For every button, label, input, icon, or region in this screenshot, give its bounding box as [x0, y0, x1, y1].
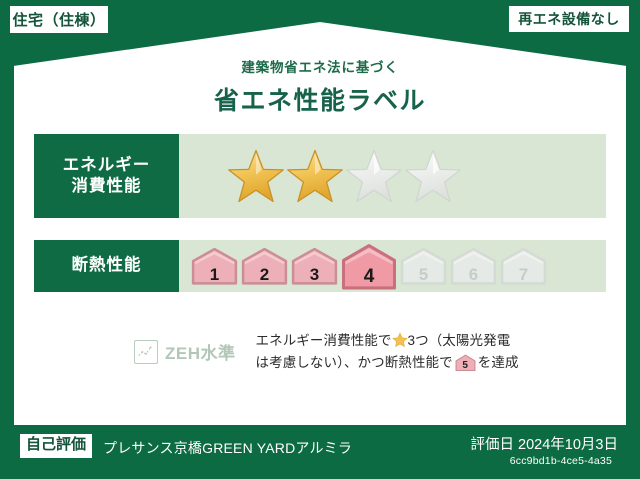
zeh-desc-text-4: を達成 — [478, 355, 519, 370]
star-icon — [392, 332, 408, 348]
renewable-equipment-tag: 再エネ設備なし — [509, 6, 629, 32]
zeh-desc-text-3: は考慮しない）、かつ断熱性能で — [256, 355, 453, 370]
zeh-desc-text-2: 3つ（太陽光発電 — [408, 333, 511, 348]
insulation-grade-5: 5 — [400, 247, 447, 285]
insulation-grade-number: 2 — [241, 266, 288, 283]
evaluation-date: 評価日 2024年10月3日 — [471, 433, 618, 454]
insulation-grade-7: 7 — [500, 247, 547, 285]
energy-performance-row: エネルギー 消費性能 — [34, 134, 606, 218]
energy-performance-label: エネルギー 消費性能 — [34, 134, 179, 218]
zeh-description-line1: エネルギー消費性能で 3つ（太陽光発電 — [256, 330, 519, 352]
zeh-badge: ZEH水準 — [34, 339, 236, 364]
zeh-level-icon — [134, 340, 158, 364]
insulation-grade-6: 6 — [450, 247, 497, 285]
evaluation-type-badge: 自己評価 — [20, 434, 92, 458]
insulation-grade-number: 6 — [450, 266, 497, 283]
zeh-description-line2: は考慮しない）、かつ断熱性能で 5 を達成 — [256, 352, 519, 374]
zeh-badge-label: ZEH水準 — [165, 339, 236, 364]
insulation-grade-2: 2 — [241, 247, 288, 285]
insulation-performance-label: 断熱性能 — [34, 240, 179, 292]
star-rating — [179, 134, 606, 218]
energy-label-root: 住宅（住棟） 再エネ設備なし 建築物省エネ法に基づく 省エネ性能ラベル エネルギ… — [0, 0, 640, 479]
energy-label-line2: 消費性能 — [72, 176, 142, 197]
insulation-grade-number: 3 — [291, 266, 338, 283]
insulation-grade-number: 4 — [341, 267, 397, 286]
insulation-grade-4: 4 — [341, 243, 397, 290]
footer: 自己評価 プレサンス京橋GREEN YARDアルミラ 評価日 2024年10月3… — [0, 425, 640, 479]
insulation-performance-row: 断熱性能 1234567 — [34, 240, 606, 292]
insulation-grade-number: 5 — [400, 266, 447, 283]
zeh-description: エネルギー消費性能で 3つ（太陽光発電 は考慮しない）、かつ断熱性能で 5 を達… — [256, 330, 519, 374]
insulation-grade-scale: 1234567 — [179, 240, 606, 292]
zeh-desc-text-1: エネルギー消費性能で — [256, 333, 392, 348]
energy-label-line1: エネルギー — [63, 155, 151, 176]
star-filled-icon — [227, 148, 285, 204]
grade-house-icon: 5 — [455, 354, 476, 371]
star-filled-icon — [286, 148, 344, 204]
insulation-grade-number: 1 — [191, 266, 238, 283]
zeh-note-block: ZEH水準 エネルギー消費性能で 3つ（太陽光発電 は考慮しない）、かつ断熱性能… — [34, 330, 606, 374]
star-empty-icon — [345, 148, 403, 204]
insulation-grade-3: 3 — [291, 247, 338, 285]
insulation-grade-number: 7 — [500, 266, 547, 283]
title-block: 建築物省エネ法に基づく 省エネ性能ラベル — [0, 56, 640, 117]
page-title: 省エネ性能ラベル — [0, 81, 640, 117]
building-name: プレサンス京橋GREEN YARDアルミラ — [103, 438, 352, 458]
insulation-grade-1: 1 — [191, 247, 238, 285]
insulation-label-line1: 断熱性能 — [72, 255, 142, 276]
star-empty-icon — [404, 148, 462, 204]
grade-house-icon-number: 5 — [455, 361, 476, 371]
house-type-tag: 住宅（住棟） — [10, 6, 108, 33]
title-subtitle: 建築物省エネ法に基づく — [0, 56, 640, 76]
evaluation-id: 6cc9bd1b-4ce5-4a35 — [510, 455, 612, 467]
